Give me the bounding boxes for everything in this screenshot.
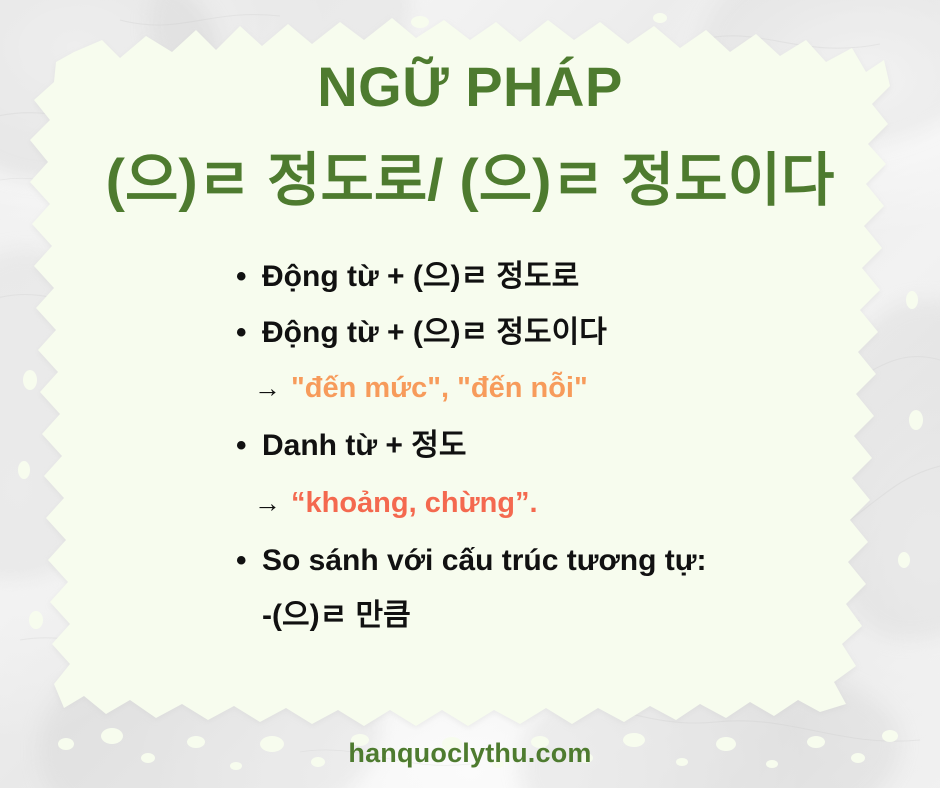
arrow-right-icon: → [254, 373, 281, 404]
list-item-label: Động từ + (으)ㄹ 정도이다 [262, 318, 916, 348]
comparison-pattern: -(으)ㄹ 만큼 [262, 590, 916, 634]
list-item-label: Động từ + (으)ㄹ 정도로 [262, 262, 916, 292]
note-row: → “khoảng, chừng”. [254, 487, 916, 520]
list-item: • So sánh với cấu trúc tương tự: [236, 546, 916, 576]
website-footer: hanquoclythu.com [0, 738, 940, 769]
bullet-icon: • [236, 318, 262, 348]
grammar-list: • Động từ + (으)ㄹ 정도로 • Động từ + (으)ㄹ 정도… [236, 262, 916, 634]
note-text: “khoảng, chừng”. [291, 487, 538, 520]
note-row: → "đến mức", "đến nỗi" [254, 372, 916, 405]
list-item: • Danh từ + 정도 [236, 431, 916, 461]
list-item: • Động từ + (으)ㄹ 정도로 [236, 262, 916, 292]
bullet-icon: • [236, 546, 262, 576]
list-item-label: Danh từ + 정도 [262, 431, 916, 461]
page-title: NGỮ PHÁP [0, 58, 940, 117]
bullet-icon: • [236, 262, 262, 292]
list-item: • Động từ + (으)ㄹ 정도이다 [236, 318, 916, 348]
note-text: "đến mức", "đến nỗi" [291, 372, 588, 405]
poster-content: NGỮ PHÁP (으)ㄹ 정도로/ (으)ㄹ 정도이다 • Động từ +… [0, 0, 940, 788]
poster-canvas: NGỮ PHÁP (으)ㄹ 정도로/ (으)ㄹ 정도이다 • Động từ +… [0, 0, 940, 788]
arrow-right-icon: → [254, 488, 281, 519]
bullet-icon: • [236, 431, 262, 461]
grammar-pattern-heading: (으)ㄹ 정도로/ (으)ㄹ 정도이다 [0, 148, 940, 215]
list-item-label: So sánh với cấu trúc tương tự: [262, 546, 916, 576]
